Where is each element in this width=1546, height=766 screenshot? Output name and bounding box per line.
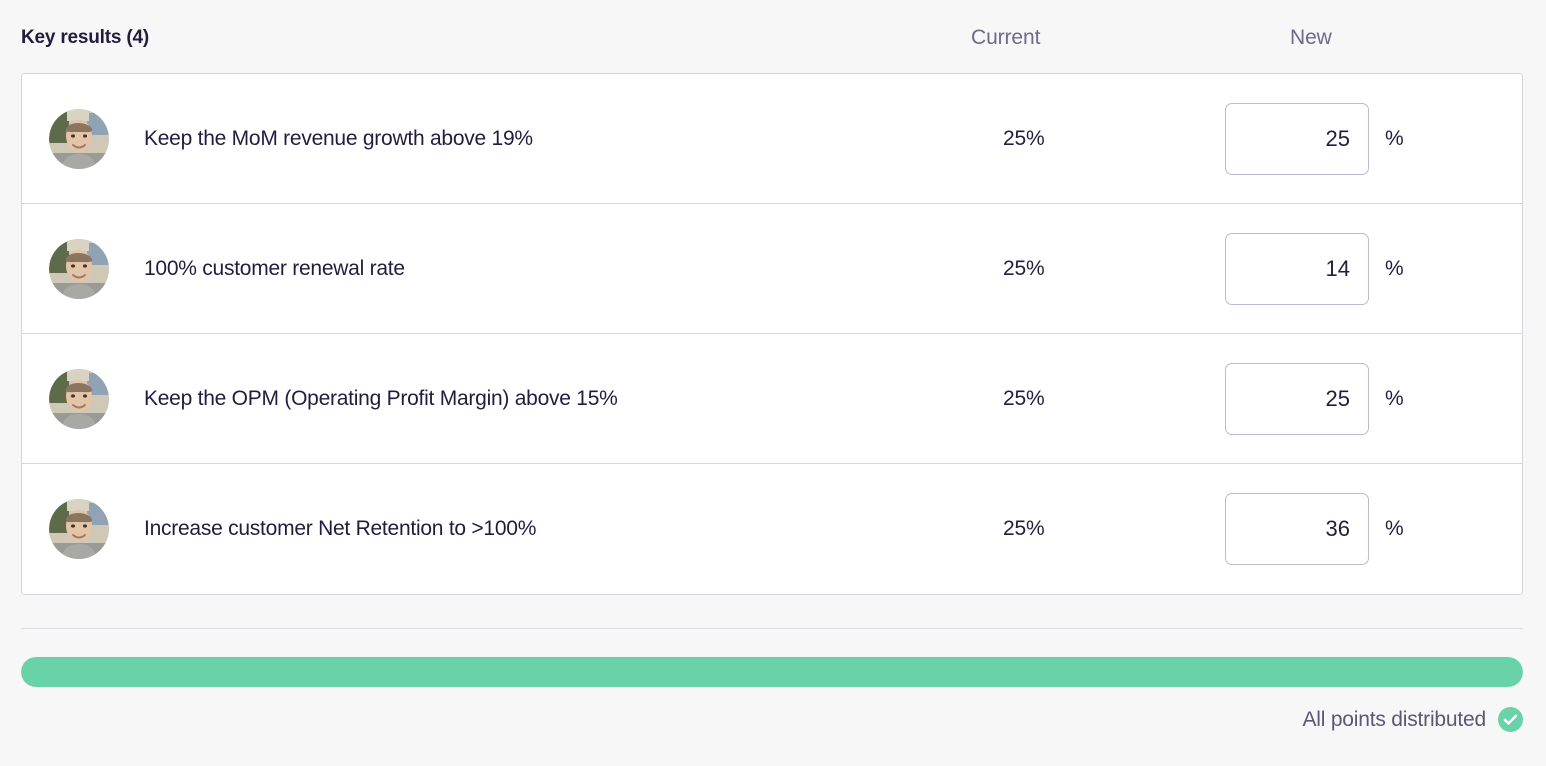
percent-symbol: % [1385, 387, 1404, 411]
key-result-new-value-group: % [1225, 103, 1404, 175]
key-result-current-value: 25% [1003, 127, 1044, 151]
person-photo-avatar [49, 109, 109, 169]
key-result-current-value: 25% [1003, 257, 1044, 281]
key-result-title: 100% customer renewal rate [144, 257, 405, 281]
percent-symbol: % [1385, 257, 1404, 281]
key-result-current-value: 25% [1003, 387, 1044, 411]
column-header-current: Current [971, 26, 1040, 50]
person-photo-avatar [49, 239, 109, 299]
avatar[interactable] [49, 499, 109, 559]
page-title: Key results (4) [21, 27, 149, 49]
key-result-current-value: 25% [1003, 517, 1044, 541]
key-result-row[interactable]: 100% customer renewal rate 25% % [22, 204, 1522, 334]
new-value-input[interactable] [1225, 103, 1369, 175]
avatar[interactable] [49, 239, 109, 299]
avatar[interactable] [49, 109, 109, 169]
check-circle-icon [1498, 707, 1523, 732]
new-value-input[interactable] [1225, 363, 1369, 435]
person-photo-avatar [49, 369, 109, 429]
status-badge: All points distributed [1302, 707, 1523, 732]
key-result-new-value-group: % [1225, 363, 1404, 435]
key-result-title: Keep the MoM revenue growth above 19% [144, 127, 533, 151]
key-results-card: Keep the MoM revenue growth above 19% 25… [21, 73, 1523, 595]
divider [21, 628, 1523, 629]
person-photo-avatar [49, 499, 109, 559]
key-result-new-value-group: % [1225, 493, 1404, 565]
status-label: All points distributed [1302, 708, 1486, 732]
new-value-input[interactable] [1225, 233, 1369, 305]
key-results-header: Key results (4) Current New [0, 0, 1546, 73]
key-result-row[interactable]: Increase customer Net Retention to >100%… [22, 464, 1522, 594]
column-header-new: New [1290, 26, 1332, 50]
points-distribution-progress [21, 657, 1523, 687]
percent-symbol: % [1385, 127, 1404, 151]
progress-fill [21, 657, 1523, 687]
key-result-row[interactable]: Keep the MoM revenue growth above 19% 25… [22, 74, 1522, 204]
key-results-panel: Key results (4) Current New [0, 0, 1546, 766]
avatar[interactable] [49, 369, 109, 429]
key-result-row[interactable]: Keep the OPM (Operating Profit Margin) a… [22, 334, 1522, 464]
key-result-title: Increase customer Net Retention to >100% [144, 517, 536, 541]
key-result-title: Keep the OPM (Operating Profit Margin) a… [144, 387, 618, 411]
percent-symbol: % [1385, 517, 1404, 541]
key-result-new-value-group: % [1225, 233, 1404, 305]
new-value-input[interactable] [1225, 493, 1369, 565]
